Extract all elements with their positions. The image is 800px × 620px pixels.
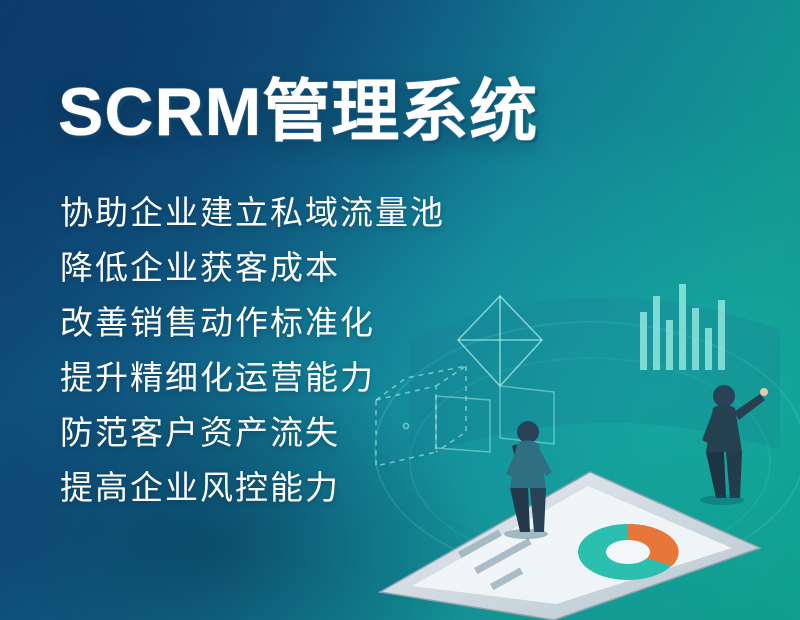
donut-chart — [578, 524, 679, 580]
promo-banner: SCRM管理系统 协助企业建立私域流量池 降低企业获客成本 改善销售动作标准化 … — [0, 0, 800, 620]
list-item: 改善销售动作标准化 — [60, 306, 520, 339]
feature-list: 协助企业建立私域流量池 降低企业获客成本 改善销售动作标准化 提升精细化运营能力… — [60, 196, 520, 526]
list-item: 提高企业风控能力 — [60, 471, 520, 504]
list-item: 提升精细化运营能力 — [60, 361, 520, 394]
list-item: 协助企业建立私域流量池 — [60, 196, 520, 229]
list-item: 防范客户资产流失 — [60, 416, 520, 449]
page-title: SCRM管理系统 — [58, 78, 538, 146]
list-item: 降低企业获客成本 — [60, 251, 520, 284]
standing-person-right — [700, 385, 768, 505]
